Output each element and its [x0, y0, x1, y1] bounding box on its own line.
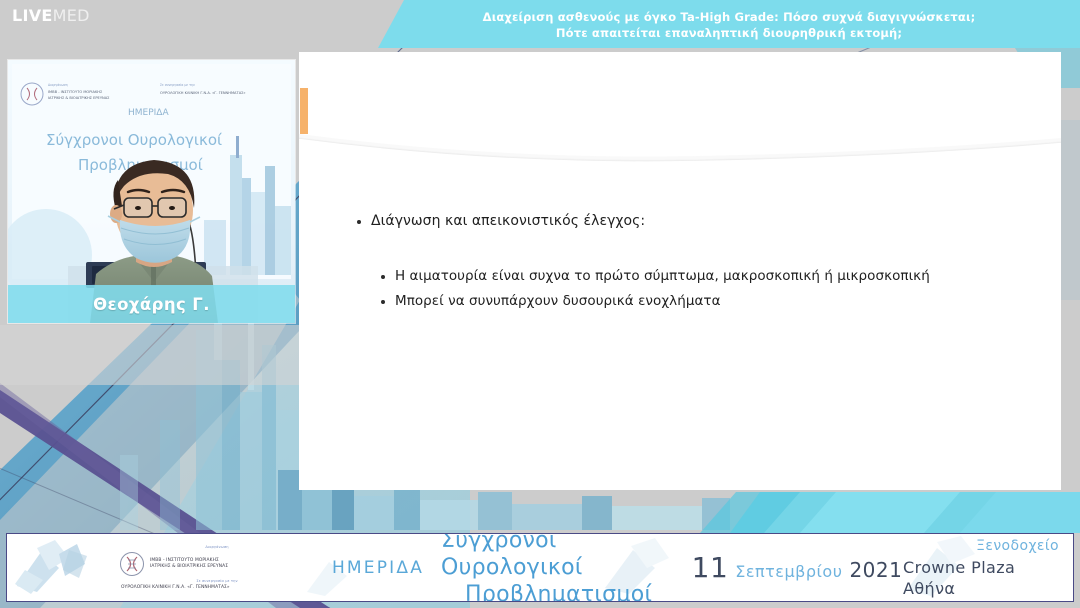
event-date: 11 Σεπτεμβρίου 2021: [691, 551, 903, 584]
slide-bullet-text-1: Διάγνωση και απεικονιστικός έλεγχος:: [371, 212, 645, 230]
bullet-dot-icon: [381, 275, 385, 279]
event-banner: Διοργάνωση ΙΜΒΒ - ΙΝΣΤΙΤΟΥΤΟ ΜΟΡΙΑΚΗΣ ΙΑ…: [6, 533, 1074, 602]
svg-text:Σε συνεργασία με την: Σε συνεργασία με την: [160, 83, 195, 87]
cooperation-line: ΟΥΡΟΛΟΓΙΚΗ ΚΛΙΝΙΚΗ Γ.Ν.Α. «Γ. ΓΕΝΝΗΜΑΤΑΣ…: [119, 585, 315, 591]
imbb-crest-icon: [119, 551, 145, 577]
slide-bullet-text-2: Η αιματουρία είναι συχνα το πρώτο σύμπτω…: [395, 267, 930, 285]
speaker-video-frame: ΗΜΕΡΙΔΑ Σύγχρονοι Ουρολογικοί Προβληματι…: [8, 60, 295, 323]
svg-text:ΗΜΕΡΙΔΑ: ΗΜΕΡΙΔΑ: [128, 108, 169, 118]
speaker-video-image: ΗΜΕΡΙΔΑ Σύγχρονοι Ουρολογικοί Προβληματι…: [8, 60, 295, 323]
organizer-texts: ΙΜΒΒ - ΙΝΣΤΙΤΟΥΤΟ ΜΟΡΙΑΚΗΣ ΙΑΤΡΙΚΗΣ & ΒΙ…: [150, 558, 228, 570]
event-kind-label: ΗΜΕΡΙΔΑ: [315, 558, 441, 578]
svg-text:ΙΑΤΡΙΚΗΣ & ΒΙΟΙΑΤΡΙΚΗΣ ΕΡΕΥΝΑΣ: ΙΑΤΡΙΚΗΣ & ΒΙΟΙΑΤΡΙΚΗΣ ΕΡΕΥΝΑΣ: [48, 96, 110, 100]
bullet-dot-icon: [381, 300, 385, 304]
brand-med-text: MED: [53, 6, 90, 25]
speaker-name-bar: Θεοχάρης Γ.: [8, 285, 295, 323]
speaker-video[interactable]: ΗΜΕΡΙΔΑ Σύγχρονοι Ουρολογικοί Προβληματι…: [8, 60, 295, 323]
slide-bullet-level1: Διάγνωση και απεικονιστικός έλεγχος:: [357, 212, 1017, 230]
session-title-line-1: Διαχείριση ασθενούς με όγκο Ta-High Grad…: [483, 9, 976, 25]
event-venue: Ξενοδοχείο Crowne Plaza Αθήνα: [903, 536, 1073, 599]
svg-text:ΟΥΡΟΛΟΓΙΚΗ ΚΛΙΝΙΚΗ Γ.Ν.Α. «Γ.: ΟΥΡΟΛΟΓΙΚΗ ΚΛΙΝΙΚΗ Γ.Ν.Α. «Γ. ΓΕΝΝΗΜΑΤΑΣ…: [160, 91, 246, 95]
event-date-day: 11: [692, 551, 729, 584]
svg-text:Σύγχρονοι Ουρολογικοί: Σύγχρονοι Ουρολογικοί: [46, 131, 222, 149]
session-title-line-2: Πότε απαιτείται επαναληπτική διουρηθρική…: [556, 25, 902, 41]
session-title-banner: Διαχείριση ασθενούς με όγκο Ta-High Grad…: [378, 0, 1080, 48]
livemed-logo: LIVEMED: [12, 6, 90, 26]
event-theme-line-1: Σύγχρονοι Ουρολογικοί: [441, 533, 691, 581]
event-venue-name: Crowne Plaza Αθήνα: [903, 557, 1059, 599]
slide-bullet-text-3: Μπορεί να συνυπάρχουν δυσουρικά ενοχλήμα…: [395, 292, 721, 310]
slide-content: Διάγνωση και απεικονιστικός έλεγχος: Η α…: [299, 52, 1061, 490]
cooperation-label: Σε συνεργασία με την: [119, 578, 315, 584]
event-banner-content: Διοργάνωση ΙΜΒΒ - ΙΝΣΤΙΤΟΥΤΟ ΜΟΡΙΑΚΗΣ ΙΑ…: [7, 534, 1073, 601]
organizer-label: Διοργάνωση: [119, 544, 315, 550]
event-venue-label: Ξενοδοχείο: [976, 536, 1059, 557]
event-theme: Σύγχρονοι Ουρολογικοί Προβληματισμοί: [441, 533, 691, 602]
svg-text:Διοργάνωση: Διοργάνωση: [48, 83, 68, 87]
organizer-row: ΙΜΒΒ - ΙΝΣΤΙΤΟΥΤΟ ΜΟΡΙΑΚΗΣ ΙΑΤΡΙΚΗΣ & ΒΙ…: [119, 551, 315, 577]
brand-live-text: LIVE: [12, 6, 53, 25]
organizer-block: Διοργάνωση ΙΜΒΒ - ΙΝΣΤΙΤΟΥΤΟ ΜΟΡΙΑΚΗΣ ΙΑ…: [115, 533, 315, 602]
slide-bullet-level2-b: Μπορεί να συνυπάρχουν δυσουρικά ενοχλήμα…: [381, 292, 1051, 310]
bullet-dot-icon: [357, 220, 361, 224]
webinar-player: LIVEMED Διαχείριση ασθενούς με όγκο Ta-H…: [0, 0, 1080, 608]
slide-bullet-level2-a: Η αιματουρία είναι συχνα το πρώτο σύμπτω…: [381, 267, 1051, 285]
presentation-slide[interactable]: Διάγνωση και απεικονιστικός έλεγχος: Η α…: [299, 52, 1061, 490]
organizer-line-2: ΙΑΤΡΙΚΗΣ & ΒΙΟΙΑΤΡΙΚΗΣ ΕΡΕΥΝΑΣ: [150, 564, 228, 570]
event-date-year: 2021: [849, 558, 902, 582]
event-date-month: Σεπτεμβρίου: [735, 562, 842, 581]
event-banner-crystal-logo: [7, 533, 115, 602]
event-theme-line-2: Προβληματισμοί: [441, 581, 652, 602]
svg-text:ΙΜΒΒ - ΙΝΣΤΙΤΟΥΤΟ ΜΟΡΙΑΚΗΣ: ΙΜΒΒ - ΙΝΣΤΙΤΟΥΤΟ ΜΟΡΙΑΚΗΣ: [48, 90, 103, 94]
speaker-name: Θεοχάρης Γ.: [93, 295, 210, 314]
